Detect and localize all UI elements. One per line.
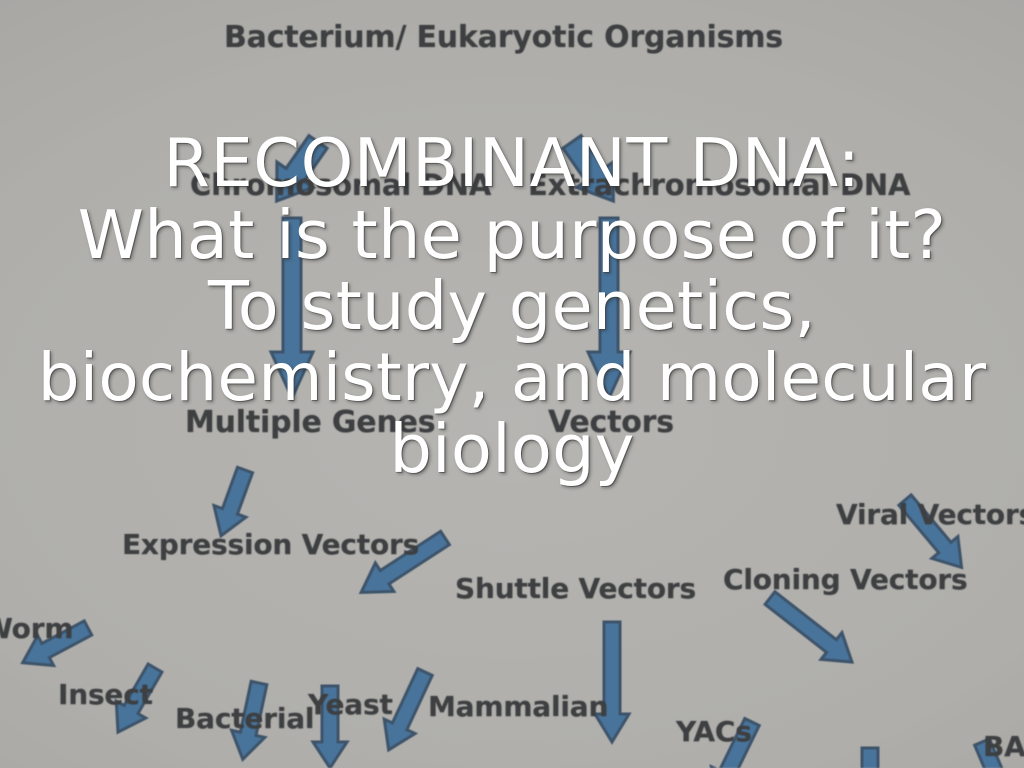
arrow-cloning-to-plasmids [853,748,887,768]
diagram-label-mammalian: Mammalian [428,690,608,723]
diagram-label-expression-vectors: Expression Vectors [122,528,419,561]
arrow-vectors-to-shuttle-vectors [595,622,629,742]
slide-canvas: Bacterium/ Eukaryotic Organisms Chromoso… [0,0,1024,768]
diagram-label-viral-vectors: Viral Vectors [836,498,1024,531]
diagram-label-extrachromosomal-dna: Extrachromosomal DNA [528,168,910,202]
arrow-vectors-to-cloning-vectors [760,585,863,676]
diagram-label-chromosomal-dna: Chromosomal DNA [190,168,491,202]
diagram-label-bacs: BACs [983,730,1024,763]
diagram-label-vectors: Vectors [548,405,674,440]
diagram-label-yeast: Yeast [308,688,393,721]
diagram-title-organisms: Bacterium/ Eukaryotic Organisms [224,20,783,55]
diagram-label-worm: Worm [0,612,73,645]
diagram-label-yacs: YACs [676,715,752,748]
diagram-label-insect: Insect [58,678,153,711]
diagram-label-shuttle-vectors: Shuttle Vectors [455,572,696,605]
background-diagram-image: Bacterium/ Eukaryotic Organisms Chromoso… [0,0,1024,768]
arrow-extrachromosomal-to-vectors [588,218,630,398]
diagram-label-cloning-vectors: Cloning Vectors [723,563,967,596]
arrow-chromosomal-to-multiple-genes [271,218,313,398]
diagram-label-multiple-genes: Multiple Genes [185,405,435,440]
diagram-label-bacterial: Bacterial [175,702,314,735]
diagram-arrow-layer [0,0,1024,768]
